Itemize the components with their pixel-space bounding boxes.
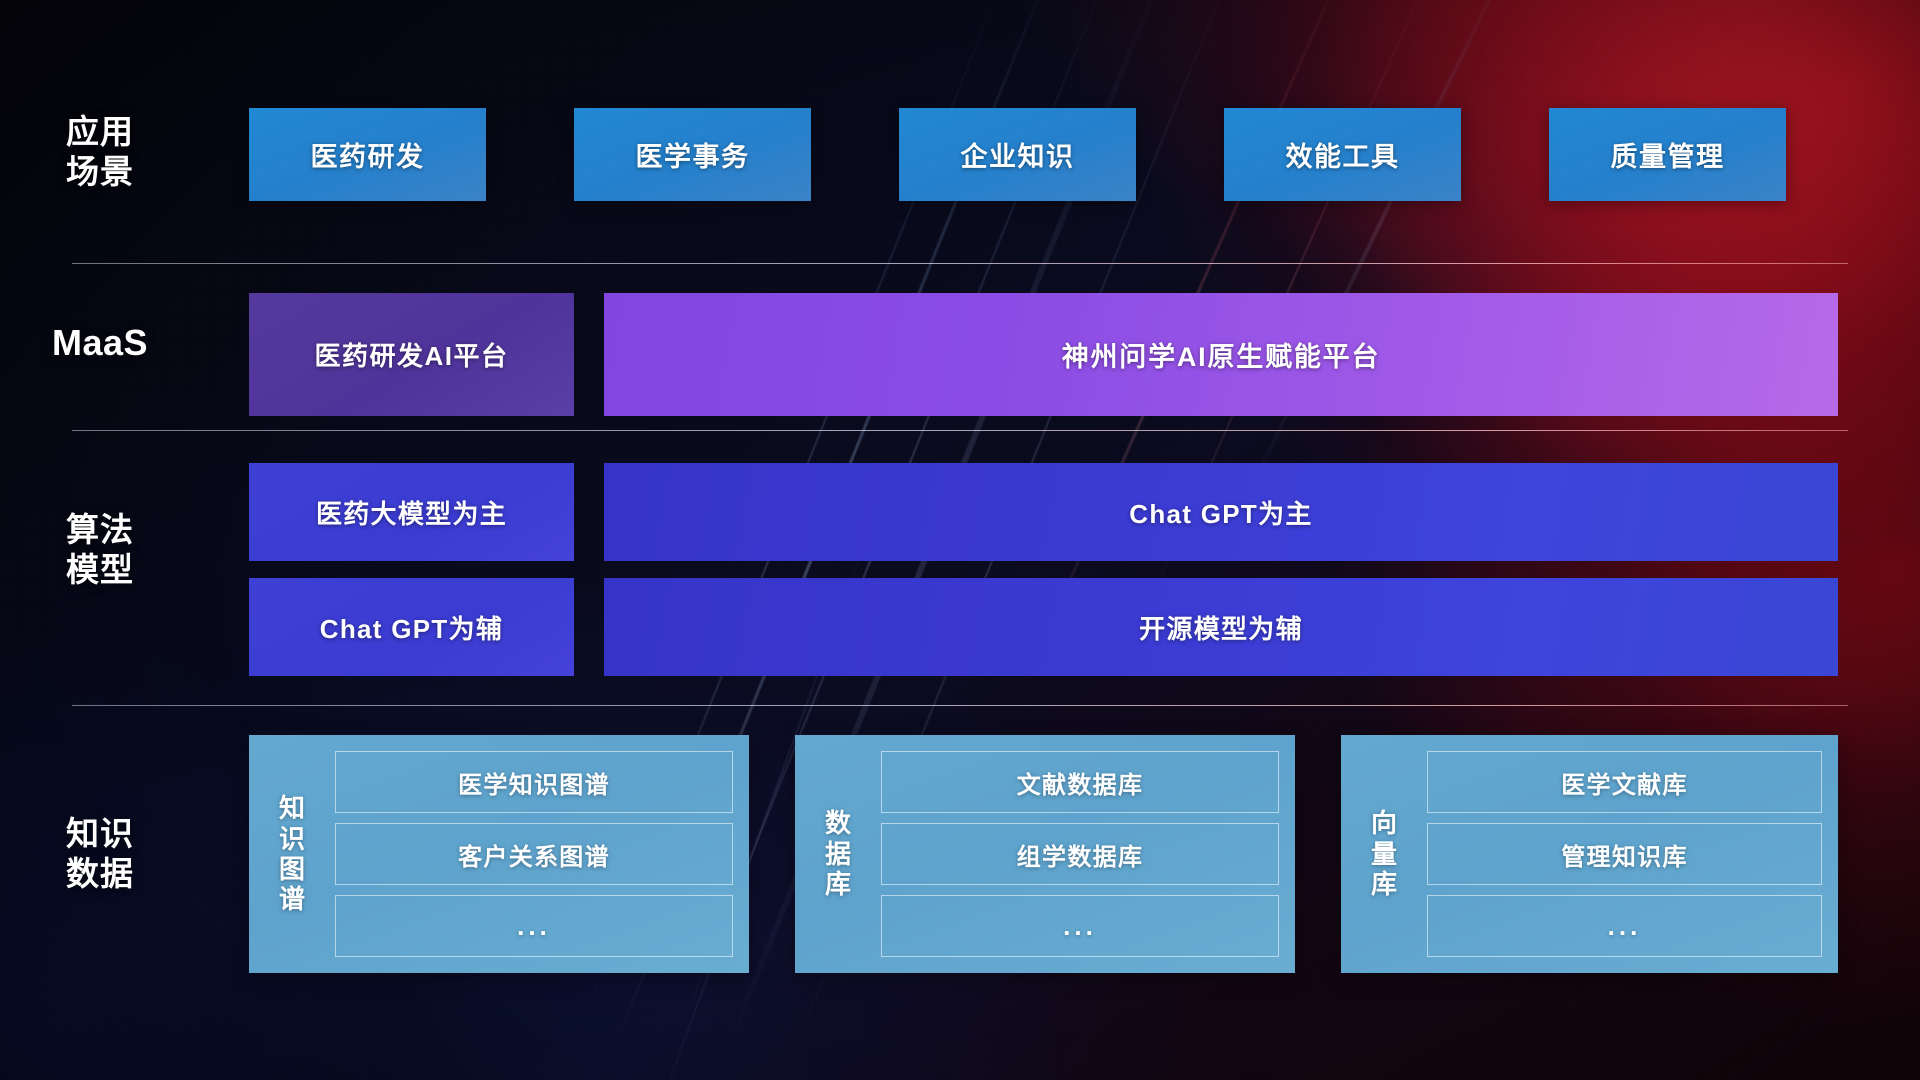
divider-algorithm-knowledge (72, 705, 1848, 706)
application-cell-5[interactable]: 质量管理 (1549, 108, 1786, 201)
algorithm-left-secondary[interactable]: Chat GPT为辅 (249, 578, 574, 676)
knowledge-group-graph-label: 知识图谱 (263, 793, 321, 915)
application-cell-1[interactable]: 医药研发 (249, 108, 486, 201)
knowledge-item-more[interactable]: ... (881, 895, 1279, 957)
application-cell-4[interactable]: 效能工具 (1224, 108, 1461, 201)
architecture-diagram: 应用 场景 医药研发 医学事务 企业知识 效能工具 质量管理 MaaS 医药研发… (0, 0, 1920, 1080)
knowledge-group-graph[interactable]: 知识图谱 医学知识图谱 客户关系图谱 ... (249, 735, 749, 973)
knowledge-group-graph-items: 医学知识图谱 客户关系图谱 ... (321, 749, 733, 959)
algorithm-left-primary[interactable]: 医药大模型为主 (249, 463, 574, 561)
maas-platform-right[interactable]: 神州问学AI原生赋能平台 (604, 293, 1838, 416)
row-label-application-line1: 应用 (0, 112, 200, 152)
knowledge-group-database-label: 数据库 (809, 808, 867, 899)
divider-application-maas (72, 263, 1848, 264)
row-label-knowledge-line1: 知识 (66, 814, 134, 854)
knowledge-item-more[interactable]: ... (1427, 895, 1822, 957)
knowledge-item[interactable]: 管理知识库 (1427, 823, 1822, 885)
row-label-knowledge-line2: 数据 (66, 854, 134, 894)
row-label-algorithm-line1: 算法 (66, 510, 134, 550)
knowledge-group-vector-items: 医学文献库 管理知识库 ... (1413, 749, 1822, 959)
knowledge-item[interactable]: 医学文献库 (1427, 751, 1822, 813)
row-label-application: 应用 场景 (0, 112, 200, 193)
maas-platform-left[interactable]: 医药研发AI平台 (249, 293, 574, 416)
knowledge-item[interactable]: 客户关系图谱 (335, 823, 733, 885)
knowledge-item[interactable]: 组学数据库 (881, 823, 1279, 885)
row-label-algorithm-line2: 模型 (66, 550, 134, 590)
algorithm-right-primary[interactable]: Chat GPT为主 (604, 463, 1838, 561)
row-label-application-line2: 场景 (0, 152, 200, 192)
algorithm-right-secondary[interactable]: 开源模型为辅 (604, 578, 1838, 676)
knowledge-group-database[interactable]: 数据库 文献数据库 组学数据库 ... (795, 735, 1295, 973)
divider-maas-algorithm (72, 430, 1848, 431)
row-label-knowledge: 知识 数据 (0, 735, 200, 973)
application-cell-3[interactable]: 企业知识 (899, 108, 1136, 201)
knowledge-item-more[interactable]: ... (335, 895, 733, 957)
application-cell-2[interactable]: 医学事务 (574, 108, 811, 201)
knowledge-group-database-items: 文献数据库 组学数据库 ... (867, 749, 1279, 959)
knowledge-item[interactable]: 文献数据库 (881, 751, 1279, 813)
knowledge-group-vector[interactable]: 向量库 医学文献库 管理知识库 ... (1341, 735, 1838, 973)
row-label-algorithm: 算法 模型 (0, 422, 200, 678)
knowledge-item[interactable]: 医学知识图谱 (335, 751, 733, 813)
knowledge-group-vector-label: 向量库 (1355, 808, 1413, 899)
row-label-maas: MaaS (0, 270, 200, 416)
